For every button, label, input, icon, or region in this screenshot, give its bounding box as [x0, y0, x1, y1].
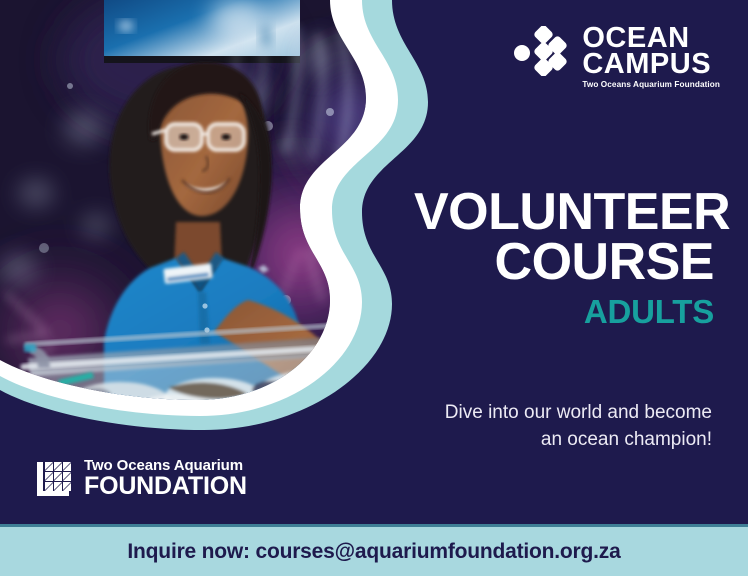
headline-line-1: VOLUNTEER: [414, 188, 714, 238]
ocean-campus-subtitle: Two Oceans Aquarium Foundation: [582, 81, 720, 88]
foundation-wordmark: Two Oceans Aquarium FOUNDATION: [84, 458, 247, 499]
headline-block: VOLUNTEER COURSE ADULTS: [414, 188, 714, 331]
ocean-campus-logo: OCEAN CAMPUS Two Oceans Aquarium Foundat…: [514, 26, 720, 88]
foundation-logo: Two Oceans Aquarium FOUNDATION: [36, 458, 247, 499]
exhibit-screen: [104, 0, 300, 63]
foundation-net-grid-mark: [36, 460, 74, 498]
foundation-line-2: FOUNDATION: [84, 474, 247, 499]
contact-bar[interactable]: Inquire now: courses@aquariumfoundation.…: [0, 527, 748, 576]
headline-audience: ADULTS: [414, 294, 714, 331]
tagline-line-1: Dive into our world and become: [392, 400, 712, 427]
contact-email-text[interactable]: Inquire now: courses@aquariumfoundation.…: [127, 540, 620, 564]
tagline-line-2: an ocean champion!: [392, 427, 712, 454]
ocean-campus-wordmark: OCEAN CAMPUS Two Oceans Aquarium Foundat…: [582, 26, 720, 88]
foundation-line-1: Two Oceans Aquarium: [84, 458, 247, 473]
right-column: OCEAN CAMPUS Two Oceans Aquarium Foundat…: [388, 0, 748, 524]
ocean-campus-line2: CAMPUS: [582, 52, 720, 78]
tagline-block: Dive into our world and become an ocean …: [392, 400, 712, 454]
ocean-campus-diamond-mark: [514, 26, 570, 76]
headline-line-2: COURSE: [414, 238, 714, 288]
poster: OCEAN CAMPUS Two Oceans Aquarium Foundat…: [0, 0, 748, 576]
